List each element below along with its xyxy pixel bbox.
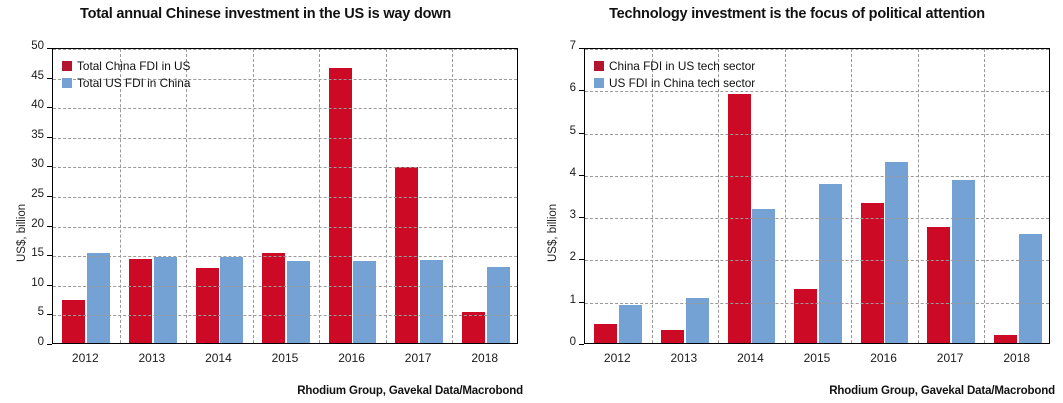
bars-container-right (585, 49, 1049, 343)
y-tick-mark (579, 90, 584, 91)
y-tick-mark (579, 302, 584, 303)
bar-series1-2018 (462, 312, 485, 343)
y-tick-label: 0 (544, 336, 576, 348)
bar-series2-2014 (220, 257, 243, 343)
y-tick-mark (47, 285, 52, 286)
y-tick-mark (47, 314, 52, 315)
y-tick-label: 1 (544, 294, 576, 306)
source-note-left: Rhodium Group, Gavekal Data/Macrobond (297, 385, 523, 397)
plot-area-left (52, 48, 518, 344)
x-tick-label: 2015 (252, 351, 319, 365)
y-tick-label: 6 (544, 82, 576, 94)
bar-series1-2012 (594, 324, 617, 343)
y-tick-label: 5 (12, 306, 44, 318)
legend-label: Total China FDI in US (77, 59, 190, 73)
legend-label: US FDI in China tech sector (609, 76, 755, 90)
legend-swatch-icon (62, 61, 72, 71)
bar-series1-2016 (861, 203, 884, 343)
bars-container-left (53, 49, 517, 343)
bar-series2-2018 (487, 267, 510, 343)
x-tick-label: 2016 (850, 351, 917, 365)
bar-series2-2013 (686, 298, 709, 343)
legend-item: US FDI in China tech sector (594, 76, 755, 90)
bar-series1-2012 (62, 300, 85, 343)
y-tick-mark (47, 255, 52, 256)
y-tick-label: 20 (12, 218, 44, 230)
legend-swatch-icon (594, 78, 604, 88)
y-tick-label: 2 (544, 251, 576, 263)
legend-swatch-icon (594, 61, 604, 71)
bar-series1-2013 (661, 330, 684, 343)
legend-item: Total China FDI in US (62, 59, 190, 73)
legend-label: China FDI in US tech sector (609, 59, 755, 73)
y-tick-label: 10 (12, 277, 44, 289)
chart-panel-right: Technology investment is the focus of po… (531, 0, 1063, 403)
y-tick-mark (579, 344, 584, 345)
source-note-right: Rhodium Group, Gavekal Data/Macrobond (829, 385, 1055, 397)
bar-series2-2018 (1019, 234, 1042, 343)
legend-left: Total China FDI in USTotal US FDI in Chi… (62, 59, 190, 90)
x-tick-label: 2015 (784, 351, 851, 365)
bar-series1-2017 (395, 167, 418, 343)
y-tick-label: 30 (12, 158, 44, 170)
y-tick-label: 7 (544, 40, 576, 52)
bar-series2-2016 (353, 261, 376, 343)
y-tick-mark (47, 196, 52, 197)
two-panel-bar-chart-figure: Total annual Chinese investment in the U… (0, 0, 1063, 403)
x-tick-label: 2012 (584, 351, 651, 365)
y-tick-label: 0 (12, 336, 44, 348)
legend-swatch-icon (62, 78, 72, 88)
y-tick-mark (579, 48, 584, 49)
legend-right: China FDI in US tech sectorUS FDI in Chi… (594, 59, 755, 90)
x-tick-label: 2014 (185, 351, 252, 365)
bar-series1-2013 (129, 259, 152, 343)
y-tick-mark (47, 166, 52, 167)
y-tick-mark (47, 226, 52, 227)
bar-series1-2015 (262, 253, 285, 343)
y-tick-label: 15 (12, 247, 44, 259)
x-tick-label: 2014 (717, 351, 784, 365)
bar-series2-2017 (420, 260, 443, 343)
bar-series2-2013 (154, 257, 177, 343)
y-tick-mark (47, 48, 52, 49)
y-tick-mark (579, 133, 584, 134)
x-tick-label: 2013 (651, 351, 718, 365)
y-tick-mark (579, 217, 584, 218)
y-tick-label: 4 (544, 167, 576, 179)
chart-panel-left: Total annual Chinese investment in the U… (0, 0, 531, 403)
y-tick-label: 35 (12, 129, 44, 141)
bar-series1-2015 (794, 289, 817, 343)
bar-series1-2016 (329, 68, 352, 343)
plot-area-right (584, 48, 1050, 344)
legend-label: Total US FDI in China (77, 76, 190, 90)
legend-item: China FDI in US tech sector (594, 59, 755, 73)
x-tick-label: 2013 (119, 351, 186, 365)
bar-series2-2014 (752, 209, 775, 343)
chart-title-left: Total annual Chinese investment in the U… (0, 6, 531, 22)
y-tick-label: 3 (544, 209, 576, 221)
y-tick-mark (579, 259, 584, 260)
x-tick-label: 2012 (52, 351, 119, 365)
x-tick-label: 2017 (917, 351, 984, 365)
y-tick-mark (47, 137, 52, 138)
legend-item: Total US FDI in China (62, 76, 190, 90)
bar-series2-2012 (87, 253, 110, 343)
y-tick-label: 45 (12, 70, 44, 82)
chart-title-right: Technology investment is the focus of po… (531, 6, 1063, 22)
x-tick-label: 2016 (318, 351, 385, 365)
bar-series2-2012 (619, 305, 642, 343)
y-tick-label: 50 (12, 40, 44, 52)
bar-series1-2017 (927, 227, 950, 343)
bar-series2-2015 (287, 261, 310, 343)
bar-series1-2014 (728, 94, 751, 343)
y-tick-mark (47, 107, 52, 108)
y-tick-mark (47, 78, 52, 79)
bar-series2-2015 (819, 184, 842, 343)
x-tick-label: 2018 (451, 351, 518, 365)
x-tick-label: 2018 (983, 351, 1050, 365)
y-tick-label: 5 (544, 125, 576, 137)
bar-series1-2014 (196, 268, 219, 343)
y-tick-label: 40 (12, 99, 44, 111)
y-tick-label: 25 (12, 188, 44, 200)
y-tick-mark (47, 344, 52, 345)
x-tick-label: 2017 (385, 351, 452, 365)
bar-series1-2018 (994, 335, 1017, 343)
bar-series2-2017 (952, 180, 975, 343)
y-tick-mark (579, 175, 584, 176)
bar-series2-2016 (885, 162, 908, 343)
